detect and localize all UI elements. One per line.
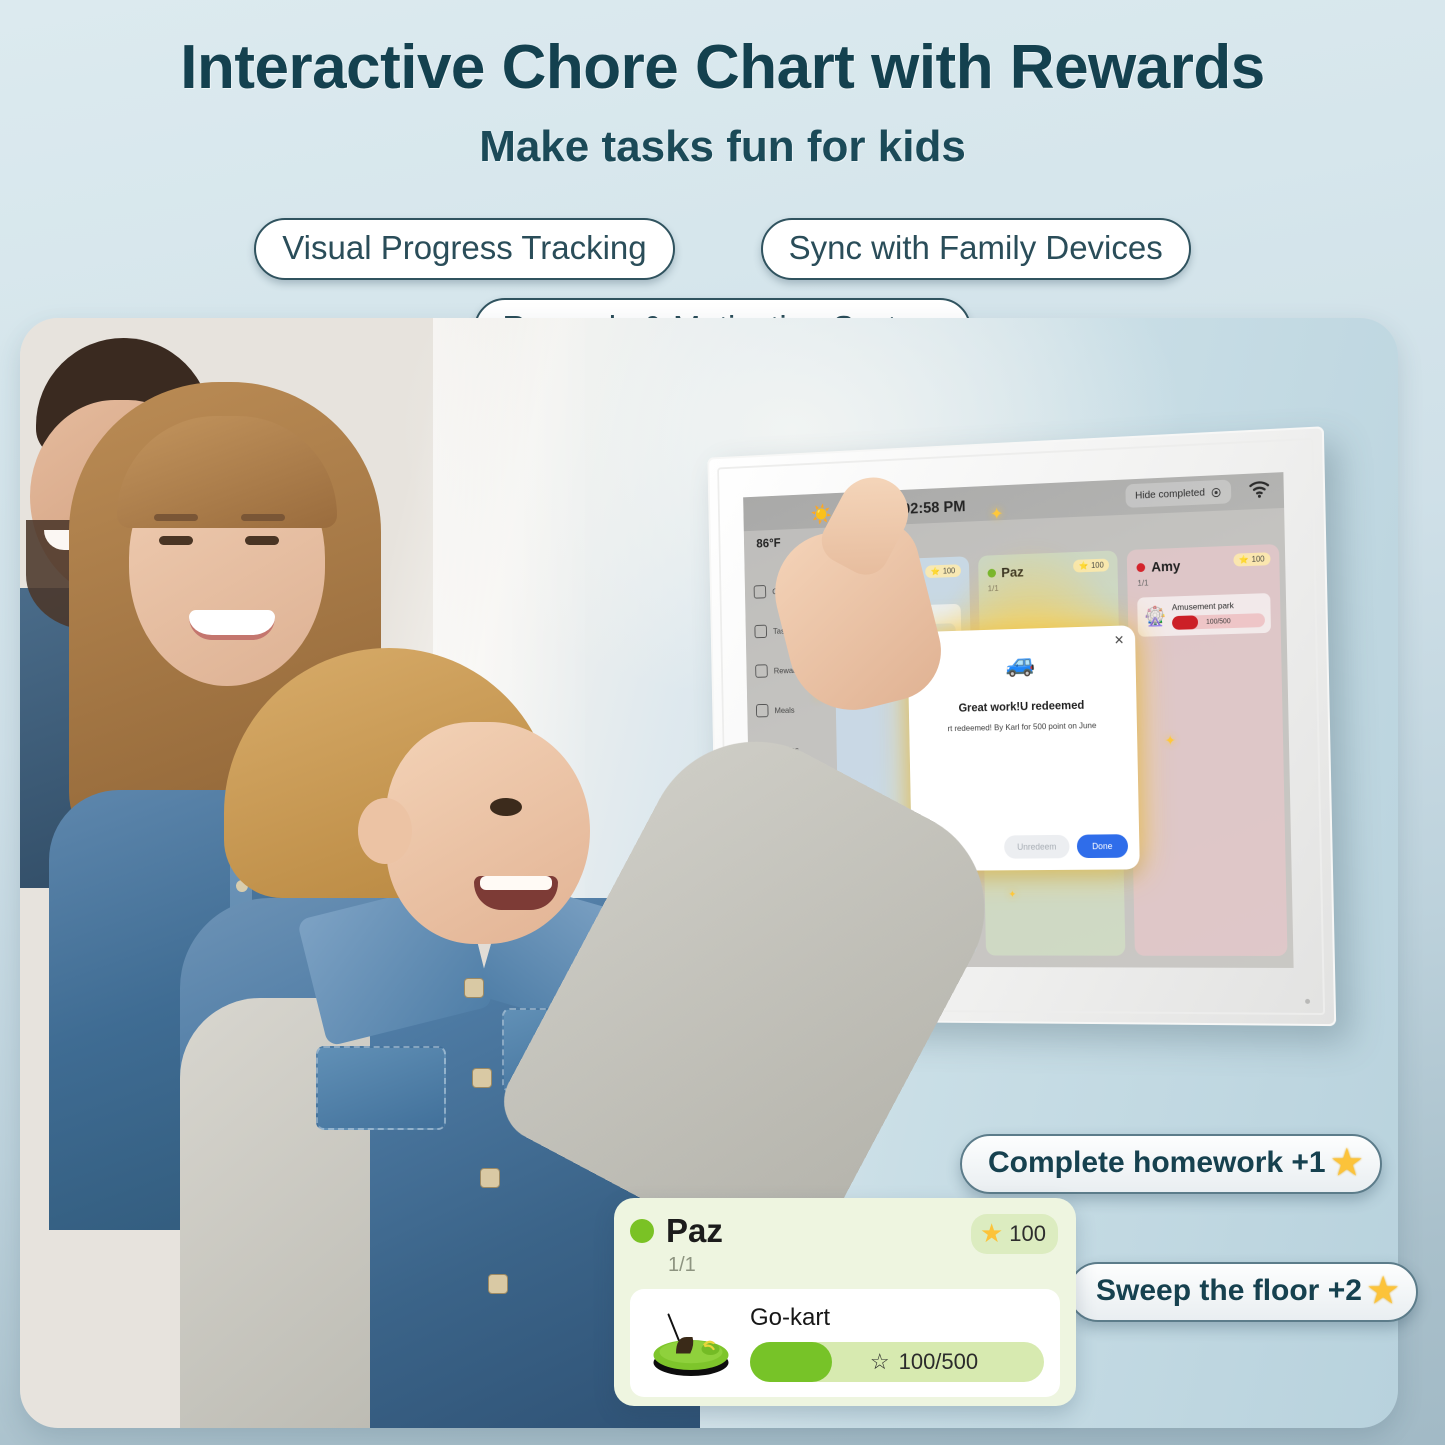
boy-jacket-pocket-left (316, 1046, 446, 1130)
modal-actions: Unredeem Done (1004, 835, 1128, 860)
star-icon: ★ (1332, 1146, 1362, 1180)
kid-card-amy[interactable]: ⭐ 100 Amy 1/1 🎡 (1127, 544, 1287, 956)
toggle-icon (1211, 486, 1222, 497)
reward-details: Amusement park 100/500 (1172, 599, 1265, 630)
star-icon: ⭐ (931, 567, 940, 576)
reward-progress-bar: 100/500 (1172, 613, 1265, 630)
mother-eyebrow-left (154, 514, 198, 521)
sidebar-item-label: Meals (774, 705, 794, 715)
reward-progress-bar: ☆ 100/500 (750, 1342, 1044, 1382)
paz-reward-details: Go-kart ☆ 100/500 (750, 1304, 1044, 1382)
mother-eyebrow-right (241, 514, 285, 521)
kid-points-badge: ⭐ 100 (1073, 559, 1109, 573)
kid-color-dot (987, 568, 995, 577)
paz-points-badge: ★ 100 (971, 1214, 1058, 1254)
callout-text: Sweep the floor +2 (1096, 1274, 1362, 1308)
mother-smile (189, 610, 275, 640)
mother-eye-left (159, 536, 193, 545)
boy-jacket-button (480, 1168, 500, 1188)
modal-title: Great work!U redeemed (919, 697, 1124, 715)
boy-ear (358, 798, 412, 864)
boy-jacket-button (488, 1274, 508, 1294)
kid-points-badge: ⭐ 100 (925, 564, 960, 578)
meals-icon (756, 704, 769, 718)
calendar-icon (754, 585, 767, 599)
paz-points-value: 100 (1009, 1221, 1046, 1247)
kid-name: Amy (1151, 558, 1180, 575)
paz-name: Paz (666, 1212, 723, 1250)
hide-completed-toggle[interactable]: Hide completed (1125, 480, 1231, 508)
mother-eye-right (245, 536, 279, 545)
done-button[interactable]: Done (1077, 835, 1128, 859)
boy-teeth (480, 876, 552, 890)
wifi-icon[interactable] (1248, 480, 1270, 499)
go-kart-icon (646, 1307, 736, 1379)
star-icon: ★ (1368, 1274, 1398, 1308)
feature-pill-sync-with-family-devices[interactable]: Sync with Family Devices (761, 218, 1191, 280)
go-kart-icon: 🚙 (918, 646, 1124, 682)
kid-task-fraction: 1/1 (988, 579, 1109, 593)
sparkle-icon: ✦ (990, 504, 1004, 524)
callout-sweep-the-floor: Sweep the floor +2 ★ (1068, 1262, 1418, 1322)
callout-text: Complete homework +1 (988, 1146, 1326, 1180)
paz-reward-row[interactable]: Go-kart ☆ 100/500 (630, 1289, 1060, 1397)
paz-color-dot (630, 1219, 654, 1243)
temperature-label: 86°F (756, 535, 781, 550)
reward-progress-value: ☆ 100/500 (750, 1349, 1044, 1375)
reward-row[interactable]: 🎡 Amusement park 100/500 (1138, 593, 1271, 637)
tasks-icon (754, 625, 767, 639)
star-icon: ⭐ (1079, 561, 1089, 570)
kid-task-fraction: 1/1 (1137, 573, 1270, 588)
reward-title: Go-kart (750, 1304, 1044, 1332)
sidebar-item-meals[interactable]: Meals (747, 703, 795, 717)
paz-task-fraction: 1/1 (668, 1254, 1060, 1277)
sparkle-icon: ✦ (1164, 732, 1176, 749)
unredeem-button[interactable]: Unredeem (1004, 835, 1070, 859)
kid-points-value: 100 (1251, 554, 1264, 563)
boy-jacket-button (472, 1068, 492, 1088)
sparkle-icon: ✦ (1008, 890, 1016, 901)
boy-face (386, 722, 590, 944)
power-led-icon (1305, 999, 1310, 1004)
star-icon: ⭐ (1239, 555, 1249, 564)
feature-pill-row-1: Visual Progress Tracking Sync with Famil… (0, 218, 1445, 280)
kid-points-value: 100 (1091, 561, 1104, 570)
ferris-wheel-icon: 🎡 (1144, 607, 1167, 626)
star-icon (755, 664, 768, 678)
callout-complete-homework: Complete homework +1 ★ (960, 1134, 1382, 1194)
paz-reward-card[interactable]: ★ 100 Paz 1/1 Go-kart ☆ 100/500 (614, 1198, 1076, 1406)
hero-header: Interactive Chore Chart with Rewards Mak… (0, 0, 1445, 318)
kid-name: Paz (1001, 564, 1024, 580)
star-icon: ★ (980, 1218, 1003, 1249)
kid-color-dot (1137, 563, 1146, 572)
reward-title: Amusement park (1172, 599, 1265, 612)
star-outline-icon: ☆ (870, 1349, 890, 1375)
boy-jacket-button (464, 978, 484, 998)
boy-eye (490, 798, 522, 816)
close-icon[interactable]: ✕ (1114, 633, 1125, 649)
kid-points-value: 100 (943, 566, 955, 575)
feature-pill-visual-progress-tracking[interactable]: Visual Progress Tracking (254, 218, 674, 280)
page-title: Interactive Chore Chart with Rewards (0, 32, 1445, 103)
modal-subtitle: rt redeemed! By Karl for 500 point on Ju… (920, 720, 1125, 734)
reward-progress-text: 100/500 (899, 1349, 979, 1375)
kid-points-badge: ⭐ 100 (1233, 552, 1271, 566)
page-subtitle: Make tasks fun for kids (0, 122, 1445, 172)
hide-completed-label: Hide completed (1135, 487, 1205, 502)
